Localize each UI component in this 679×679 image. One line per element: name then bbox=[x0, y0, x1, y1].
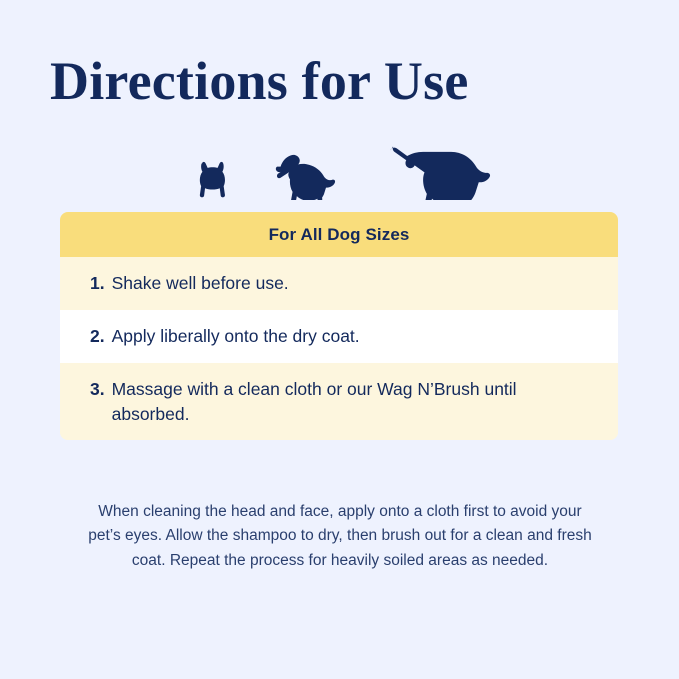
step-text: Shake well before use. bbox=[112, 271, 289, 296]
instructions-card: For All Dog Sizes 1. Shake well before u… bbox=[60, 212, 618, 440]
dog-size-illustration bbox=[0, 138, 679, 200]
dog-silhouette-medium-icon bbox=[275, 152, 353, 200]
directions-for-use-panel: Directions for Use For All Dog Sizes 1. … bbox=[0, 0, 679, 679]
instruction-step: 1. Shake well before use. bbox=[60, 257, 618, 310]
step-number: 1. bbox=[90, 271, 105, 296]
dog-silhouette-large-icon bbox=[387, 142, 491, 200]
step-number: 3. bbox=[90, 377, 105, 402]
page-title: Directions for Use bbox=[50, 52, 469, 111]
instruction-step: 3. Massage with a clean cloth or our Wag… bbox=[60, 363, 618, 441]
card-header: For All Dog Sizes bbox=[60, 212, 618, 257]
instruction-step: 2. Apply liberally onto the dry coat. bbox=[60, 310, 618, 363]
step-number: 2. bbox=[90, 324, 105, 349]
dog-silhouette-small-icon bbox=[189, 160, 241, 200]
footnote-text: When cleaning the head and face, apply o… bbox=[80, 500, 600, 573]
step-text: Massage with a clean cloth or our Wag N’… bbox=[112, 377, 592, 427]
step-text: Apply liberally onto the dry coat. bbox=[112, 324, 360, 349]
